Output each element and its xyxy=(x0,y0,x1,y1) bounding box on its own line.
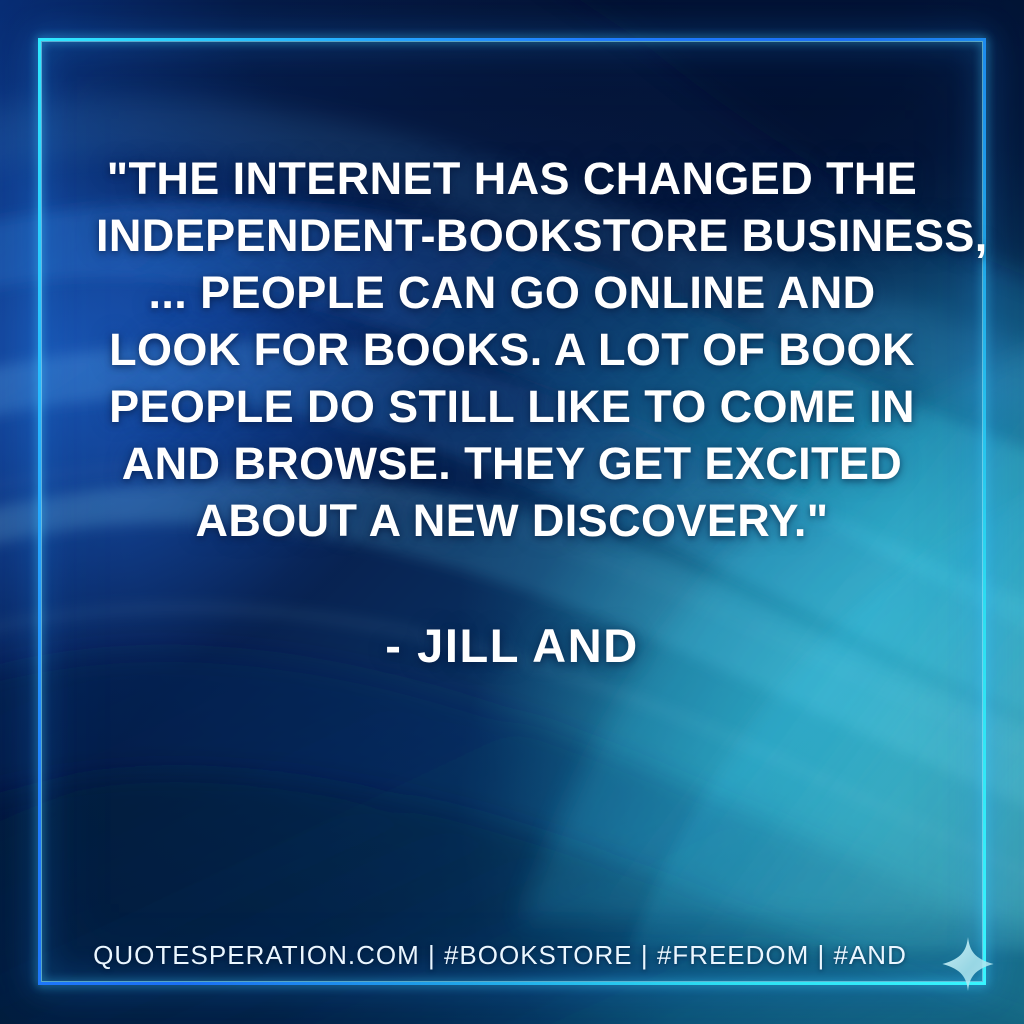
quote-line: ABOUT A NEW DISCOVERY." xyxy=(96,492,928,549)
footer-credit: QUOTESPERATION.COM | #BOOKSTORE | #FREED… xyxy=(60,940,940,971)
sparkle-icon xyxy=(941,936,995,992)
quote-card: "THE INTERNET HAS CHANGED THE INDEPENDEN… xyxy=(0,0,1024,1024)
quote-line: INDEPENDENT-BOOKSTORE BUSINESS, xyxy=(96,207,928,264)
quote-line: LOOK FOR BOOKS. A LOT OF BOOK xyxy=(96,321,928,378)
quote-text: "THE INTERNET HAS CHANGED THE INDEPENDEN… xyxy=(96,150,928,549)
quote-line: ... PEOPLE CAN GO ONLINE AND xyxy=(96,264,928,321)
quote-line: AND BROWSE. THEY GET EXCITED xyxy=(96,435,928,492)
quote-line: "THE INTERNET HAS CHANGED THE xyxy=(96,150,928,207)
quote-attribution: - JILL AND xyxy=(96,618,928,673)
quote-line: PEOPLE DO STILL LIKE TO COME IN xyxy=(96,378,928,435)
